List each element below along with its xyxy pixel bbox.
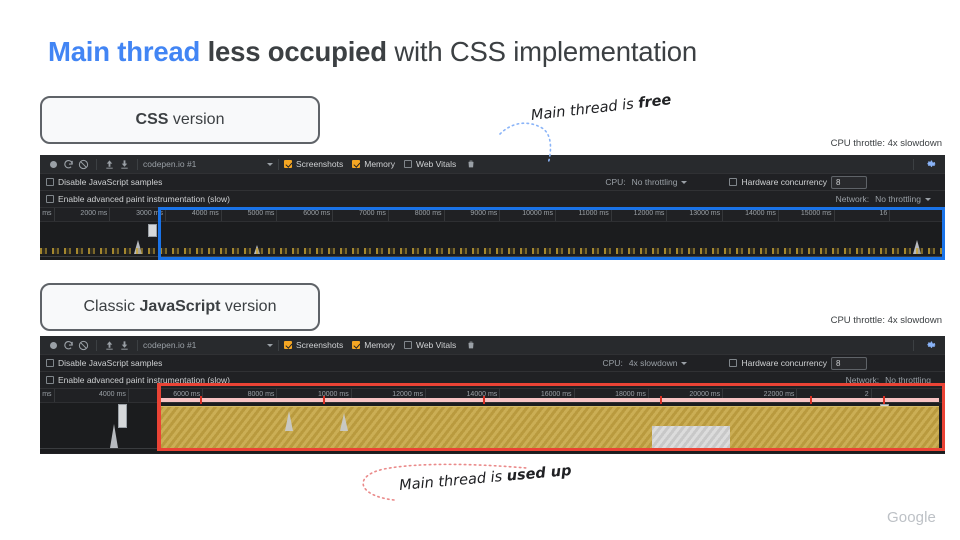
reload-icon[interactable] [61, 338, 76, 353]
ruler-tick-label: 12000 ms [392, 391, 423, 398]
css-throttle-caption: CPU throttle: 4x slowdown [831, 138, 942, 149]
checkbox-web-vitals[interactable]: Web Vitals [404, 340, 456, 350]
ruler-tick: 9000 ms [499, 208, 500, 221]
ruler-tick: 10000 ms [555, 208, 556, 221]
pill-js-prefix: Classic [84, 298, 140, 315]
toolbar-divider-2 [137, 159, 138, 170]
main-thread-activity-busy [160, 406, 939, 448]
checkbox-box [352, 341, 360, 349]
checkbox-box [729, 359, 737, 367]
ruler-tick: 12000 ms [666, 208, 667, 221]
idle-gap-block [652, 426, 730, 448]
checkbox-advanced-paint[interactable]: Enable advanced paint instrumentation (s… [46, 375, 230, 385]
ruler-tick-label: 2000 ms [80, 210, 107, 217]
network-band [160, 398, 939, 402]
ruler-tick: 4000 ms [221, 208, 222, 221]
ruler-tick-label: 7000 ms [359, 210, 386, 217]
ruler-tick-label: 8000 ms [415, 210, 442, 217]
ruler-tick: 8000 ms [444, 208, 445, 221]
ruler-tick-label: 11000 ms [578, 210, 608, 217]
devtools-toolbar-js: codepen.io #1 Screenshots Memory Web Vit… [40, 336, 945, 355]
checkbox-box [46, 376, 54, 384]
network-label: Network: [836, 194, 870, 204]
checkbox-box [284, 160, 292, 168]
devtools-options-row-1-js: Disable JavaScript samples CPU: 4x slowd… [40, 355, 945, 372]
google-logo: Google [887, 509, 936, 526]
title-highlight: Main thread [48, 36, 200, 67]
network-throttle-dropdown[interactable]: No throttling [875, 194, 931, 204]
ruler-tick-label: 18000 ms [615, 391, 646, 398]
checkbox-label: Disable JavaScript samples [58, 358, 162, 368]
ruler-tick: 6000 ms [332, 208, 333, 221]
chevron-down-icon [681, 181, 687, 184]
trash-icon[interactable] [463, 338, 478, 353]
devtools-options-row-2-js: Enable advanced paint instrumentation (s… [40, 372, 945, 389]
clear-icon[interactable] [76, 338, 91, 353]
toolbar-divider-4 [913, 340, 914, 351]
ruler-tick-label: 14000 ms [745, 210, 776, 217]
checkbox-label: Memory [364, 340, 395, 350]
title-rest: with CSS implementation [394, 36, 697, 67]
upload-icon[interactable] [102, 157, 117, 172]
checkbox-label: Hardware concurrency [741, 177, 827, 187]
ruler-tick: 11000 ms [611, 208, 612, 221]
checkbox-disable-js-samples[interactable]: Disable JavaScript samples [46, 358, 162, 368]
js-throttle-caption: CPU throttle: 4x slowdown [831, 315, 942, 326]
checkbox-hardware-concurrency[interactable]: Hardware concurrency [729, 358, 827, 368]
toolbar-divider-1 [96, 159, 97, 170]
checkbox-box [46, 359, 54, 367]
ruler-tick-label: 2 [865, 391, 869, 398]
devtools-panel-css: codepen.io #1 Screenshots Memory Web Vit… [40, 155, 945, 260]
download-icon[interactable] [117, 338, 132, 353]
hardware-concurrency-input[interactable]: 8 [831, 176, 867, 189]
checkbox-label: Screenshots [296, 340, 343, 350]
chevron-down-icon [267, 163, 273, 166]
gear-icon[interactable] [924, 338, 939, 353]
checkbox-web-vitals[interactable]: Web Vitals [404, 159, 456, 169]
checkbox-label: Hardware concurrency [741, 358, 827, 368]
activity-spike [340, 413, 348, 431]
checkbox-box [46, 178, 54, 186]
record-icon[interactable] [46, 338, 61, 353]
clear-icon[interactable] [76, 157, 91, 172]
annotation-main-thread-free: Main thread is free [530, 92, 672, 124]
ruler-tick-label: 4000 ms [99, 391, 126, 398]
timeline-ruler-js: 222000 ms20000 ms18000 ms16000 ms14000 m… [40, 389, 945, 403]
page-title: Main thread less occupied with CSS imple… [48, 36, 697, 68]
pill-js-strong: JavaScript [140, 298, 221, 315]
toolbar-divider-2 [137, 340, 138, 351]
checkbox-box [284, 341, 292, 349]
checkbox-label: Web Vitals [416, 340, 456, 350]
activity-spike [110, 424, 118, 448]
checkbox-label: Web Vitals [416, 159, 456, 169]
download-icon[interactable] [117, 157, 132, 172]
record-icon[interactable] [46, 157, 61, 172]
cpu-label: CPU: [605, 177, 625, 187]
screenshot-marker [118, 404, 127, 428]
ruler-tick-label: 4000 ms [192, 210, 219, 217]
annotation-free-prefix: Main thread is [530, 96, 639, 124]
checkbox-box [404, 341, 412, 349]
ruler-tick-label: 14000 ms [467, 391, 498, 398]
main-thread-track-js[interactable] [40, 403, 945, 453]
devtools-options-row-1-css: Disable JavaScript samples CPU: No throt… [40, 174, 945, 191]
chevron-down-icon [681, 362, 687, 365]
ruler-tick: 7000 ms [388, 208, 389, 221]
timeline-ruler-css: 1615000 ms14000 ms13000 ms12000 ms11000 … [40, 208, 945, 222]
checkbox-label: Screenshots [296, 159, 343, 169]
checkbox-box [729, 178, 737, 186]
session-dropdown[interactable]: codepen.io #1 [143, 159, 273, 169]
ruler-tick-label: 6000 ms [303, 210, 330, 217]
ruler-tick-label: 16 [879, 210, 887, 217]
checkbox-label: Enable advanced paint instrumentation (s… [58, 194, 230, 204]
ruler-tick-label: 9000 ms [470, 210, 497, 217]
checkbox-label: Enable advanced paint instrumentation (s… [58, 375, 230, 385]
ruler-tick-label: 1000 ms [40, 210, 52, 217]
annotation-used-prefix: Main thread is [399, 469, 508, 494]
annotation-free-strong: free [637, 92, 672, 112]
session-dropdown[interactable]: codepen.io #1 [143, 340, 273, 350]
network-value: No throttling [875, 194, 921, 204]
session-label: codepen.io #1 [143, 340, 196, 350]
annotation-main-thread-used-up: Main thread is used up [399, 463, 573, 494]
ruler-tick-label: 16000 ms [541, 391, 572, 398]
cpu-value: 4x slowdown [629, 358, 678, 368]
ruler-tick: 3000 ms [165, 208, 166, 221]
checkbox-screenshots[interactable]: Screenshots [284, 340, 343, 350]
ruler-tick: 2000 ms [54, 389, 55, 402]
ruler-tick: 1000 ms [54, 208, 55, 221]
ruler-tick-label: 13000 ms [689, 210, 720, 217]
ruler-tick: 5000 ms [276, 208, 277, 221]
cpu-label: CPU: [603, 358, 623, 368]
toolbar-divider-4 [913, 159, 914, 170]
timeline-overview-css[interactable]: 1615000 ms14000 ms13000 ms12000 ms11000 … [40, 208, 945, 260]
cpu-throttle-dropdown[interactable]: No throttling [632, 177, 688, 187]
hardware-concurrency-input[interactable]: 8 [831, 357, 867, 370]
checkbox-box [46, 195, 54, 203]
checkbox-advanced-paint[interactable]: Enable advanced paint instrumentation (s… [46, 194, 230, 204]
ruler-tick: 4000 ms [128, 389, 129, 402]
annotation-used-strong: used up [506, 463, 572, 485]
ruler-tick: 14000 ms [778, 208, 779, 221]
ruler-tick-label: 10000 ms [522, 210, 553, 217]
ruler-tick-label: 2000 ms [40, 391, 52, 398]
pill-css-strong: CSS [136, 111, 169, 128]
devtools-toolbar-css: codepen.io #1 Screenshots Memory Web Vit… [40, 155, 945, 174]
title-bold: less occupied [208, 36, 387, 67]
toolbar-divider-3 [278, 159, 279, 170]
main-thread-activity-idle [40, 248, 945, 254]
label-javascript-version: Classic JavaScript version [40, 283, 320, 331]
upload-icon[interactable] [102, 338, 117, 353]
network-label: Network: [846, 375, 880, 385]
toolbar-divider-1 [96, 340, 97, 351]
checkbox-label: Memory [364, 159, 395, 169]
ruler-tick: 2000 ms [109, 208, 110, 221]
ruler-tick-label: 15000 ms [801, 210, 832, 217]
gear-icon[interactable] [924, 157, 939, 172]
ruler-tick: 16 [889, 208, 890, 221]
cpu-value: No throttling [632, 177, 678, 187]
trash-icon[interactable] [463, 157, 478, 172]
checkbox-disable-js-samples[interactable]: Disable JavaScript samples [46, 177, 162, 187]
devtools-options-row-2-css: Enable advanced paint instrumentation (s… [40, 191, 945, 208]
checkbox-box [404, 160, 412, 168]
ruler-tick-label: 3000 ms [136, 210, 163, 217]
checkbox-memory[interactable]: Memory [352, 159, 395, 169]
ruler-tick-label: 20000 ms [689, 391, 720, 398]
screenshot-marker [148, 224, 157, 237]
track-baseline [40, 448, 945, 450]
devtools-panel-js: codepen.io #1 Screenshots Memory Web Vit… [40, 336, 945, 454]
highlight-rect-js-left-edge [157, 383, 160, 451]
checkbox-box [352, 160, 360, 168]
network-value: No throttling [885, 375, 931, 385]
chevron-down-icon [267, 344, 273, 347]
pill-js-rest: version [220, 298, 276, 315]
ruler-tick-label: 22000 ms [764, 391, 795, 398]
checkbox-memory[interactable]: Memory [352, 340, 395, 350]
activity-spike [285, 411, 293, 431]
toolbar-divider-3 [278, 340, 279, 351]
network-throttle-dropdown[interactable]: No throttling [885, 375, 931, 385]
checkbox-screenshots[interactable]: Screenshots [284, 159, 343, 169]
checkbox-label: Disable JavaScript samples [58, 177, 162, 187]
ruler-tick: 13000 ms [722, 208, 723, 221]
pill-css-rest: version [168, 111, 224, 128]
ruler-tick: 15000 ms [834, 208, 835, 221]
session-label: codepen.io #1 [143, 159, 196, 169]
timeline-overview-js[interactable]: 222000 ms20000 ms18000 ms16000 ms14000 m… [40, 389, 945, 453]
cpu-throttle-dropdown[interactable]: 4x slowdown [629, 358, 688, 368]
ruler-tick-label: 12000 ms [634, 210, 665, 217]
ruler-tick-label: 6000 ms [173, 391, 200, 398]
ruler-tick-label: 5000 ms [248, 210, 275, 217]
label-css-version: CSS version [40, 96, 320, 144]
main-thread-track-css[interactable] [40, 222, 945, 260]
chevron-down-icon [925, 198, 931, 201]
reload-icon[interactable] [61, 157, 76, 172]
checkbox-hardware-concurrency[interactable]: Hardware concurrency [729, 177, 827, 187]
track-baseline [40, 256, 945, 258]
ruler-tick-label: 8000 ms [248, 391, 275, 398]
